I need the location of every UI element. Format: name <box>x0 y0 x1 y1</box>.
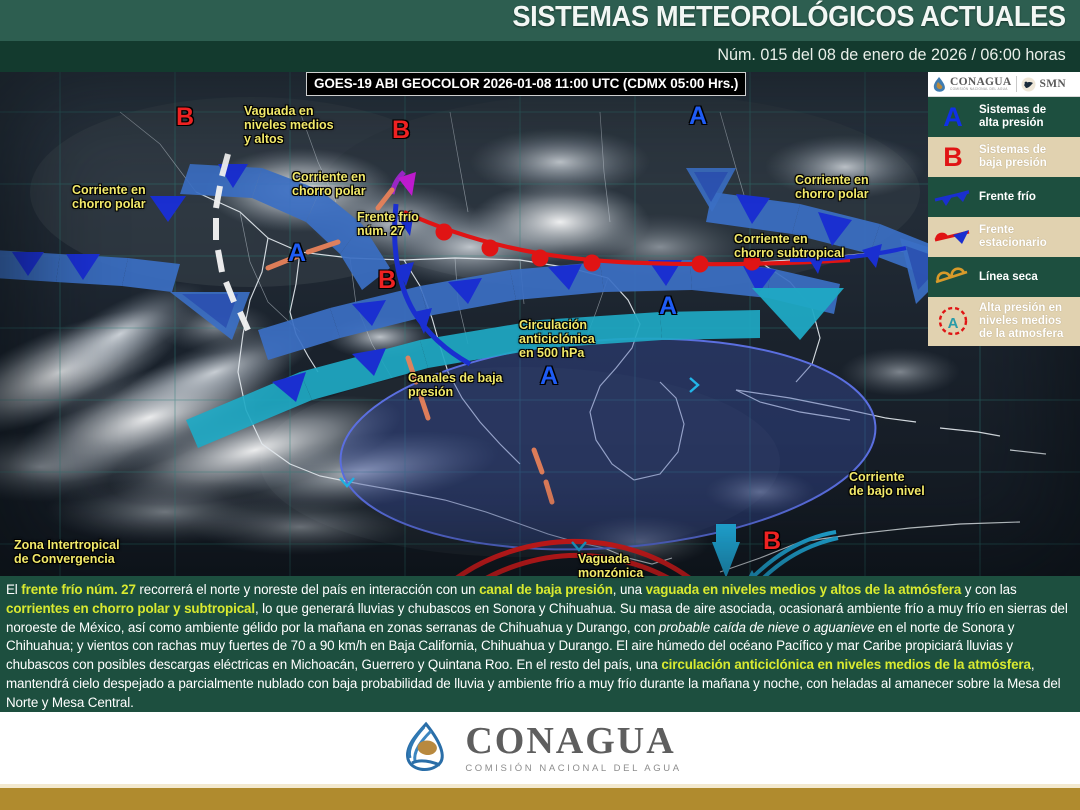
map-label-corriente-de-bajo-nivel: Corriente de bajo nivel <box>849 470 925 498</box>
map-label-corriente-chorro-polar-este: Corriente en chorro polar <box>795 173 869 201</box>
legend-smn-wordmark: SMN <box>1040 78 1066 90</box>
forecast-discussion-panel: El frente frío núm. 27 recorrerá el nort… <box>0 576 1080 712</box>
legend-item-high-pressure[interactable]: A Sistemas de alta presión <box>928 97 1080 137</box>
map-pressure-letter-B-caribe: B <box>763 529 781 554</box>
bulletin-number-date: Núm. 015 del 08 de enero de 2026 / 06:00… <box>718 45 1066 65</box>
map-pressure-letter-A-golfo-mexico: A <box>659 294 677 319</box>
map-pressure-letter-A-noreste: A <box>689 104 707 129</box>
legend-label-low-pressure: Sistemas de baja presión <box>979 144 1047 170</box>
map-pressure-letter-B-golfo-california: B <box>378 268 396 293</box>
map-pressure-letter-A-noroeste-mexico: A <box>288 241 306 266</box>
map-label-vaguada-niveles-medios-altos: Vaguada en niveles medios y altos <box>244 104 334 146</box>
legend-conagua-subtitle: COMISIÓN NACIONAL DEL AGUA <box>950 88 1012 92</box>
footer-brand-subtitle: COMISIÓN NACIONAL DEL AGUA <box>465 763 681 774</box>
mid-level-high-icon: A <box>933 306 973 336</box>
conagua-logo-icon <box>398 721 452 775</box>
map-pressure-letter-B-noroeste: B <box>176 105 194 130</box>
legend-label-dry-line: Línea seca <box>979 271 1038 284</box>
cold-front-icon <box>933 182 973 212</box>
footer-brand: CONAGUA <box>465 722 681 760</box>
footer-branding: CONAGUA COMISIÓN NACIONAL DEL AGUA <box>0 712 1080 784</box>
map-label-corriente-chorro-polar-centro: Corriente en chorro polar <box>292 170 366 198</box>
map-label-corriente-chorro-polar-oeste: Corriente en chorro polar <box>72 183 146 211</box>
legend-item-dry-line[interactable]: Línea seca <box>928 257 1080 297</box>
weather-bulletin-page: SISTEMAS METEOROLÓGICOS ACTUALES Núm. 01… <box>0 0 1080 810</box>
svg-text:A: A <box>948 315 959 332</box>
legend-item-mid-level-high[interactable]: A Alta presión en niveles medios de la a… <box>928 297 1080 346</box>
page-title: SISTEMAS METEOROLÓGICOS ACTUALES <box>513 1 1066 34</box>
map-legend: CONAGUA COMISIÓN NACIONAL DEL AGUA SMN A… <box>928 72 1080 346</box>
legend-logo-bar: CONAGUA COMISIÓN NACIONAL DEL AGUA SMN <box>928 72 1080 97</box>
legend-item-low-pressure[interactable]: B Sistemas de baja presión <box>928 137 1080 177</box>
legend-item-stationary-front[interactable]: Frente estacionario <box>928 217 1080 257</box>
high-pressure-A-icon: A <box>933 102 973 132</box>
map-label-vaguada-monzonica: Vaguada monzónica <box>578 552 643 580</box>
map-label-circulacion-anticiclonica-500hpa: Circulación anticiclónica en 500 hPa <box>519 318 595 360</box>
smn-eagle-icon <box>1021 77 1036 92</box>
forecast-discussion-text: El frente frío núm. 27 recorrerá el nort… <box>6 581 1072 713</box>
map-pressure-letter-B-norte: B <box>392 118 410 143</box>
legend-logo-divider <box>1016 76 1017 92</box>
legend-item-cold-front[interactable]: Frente frío <box>928 177 1080 217</box>
footer-gold-bar <box>0 784 1080 810</box>
dry-line-icon <box>933 262 973 292</box>
low-pressure-B-icon: B <box>933 142 973 172</box>
legend-label-stationary-front: Frente estacionario <box>979 224 1047 250</box>
legend-label-cold-front: Frente frío <box>979 191 1036 204</box>
map-label-corriente-chorro-subtropical: Corriente en chorro subtropical <box>734 232 844 260</box>
stationary-front-icon <box>933 222 973 252</box>
legend-label-high-pressure: Sistemas de alta presión <box>979 104 1046 130</box>
map-label-frente-frio-num-27: Frente frío núm. 27 <box>357 210 419 238</box>
map-label-zona-intertropical-convergencia: Zona Intertropical de Convergencia <box>14 538 120 566</box>
map-label-canales-de-baja-presion: Canales de baja presión <box>408 371 503 399</box>
map-pressure-letter-A-sureste: A <box>540 364 558 389</box>
satellite-timestamp-label: GOES-19 ABI GEOCOLOR 2026-01-08 11:00 UT… <box>306 72 746 96</box>
conagua-drop-icon <box>932 76 946 93</box>
legend-label-mid-level-high: Alta presión en niveles medios de la atm… <box>979 302 1063 341</box>
